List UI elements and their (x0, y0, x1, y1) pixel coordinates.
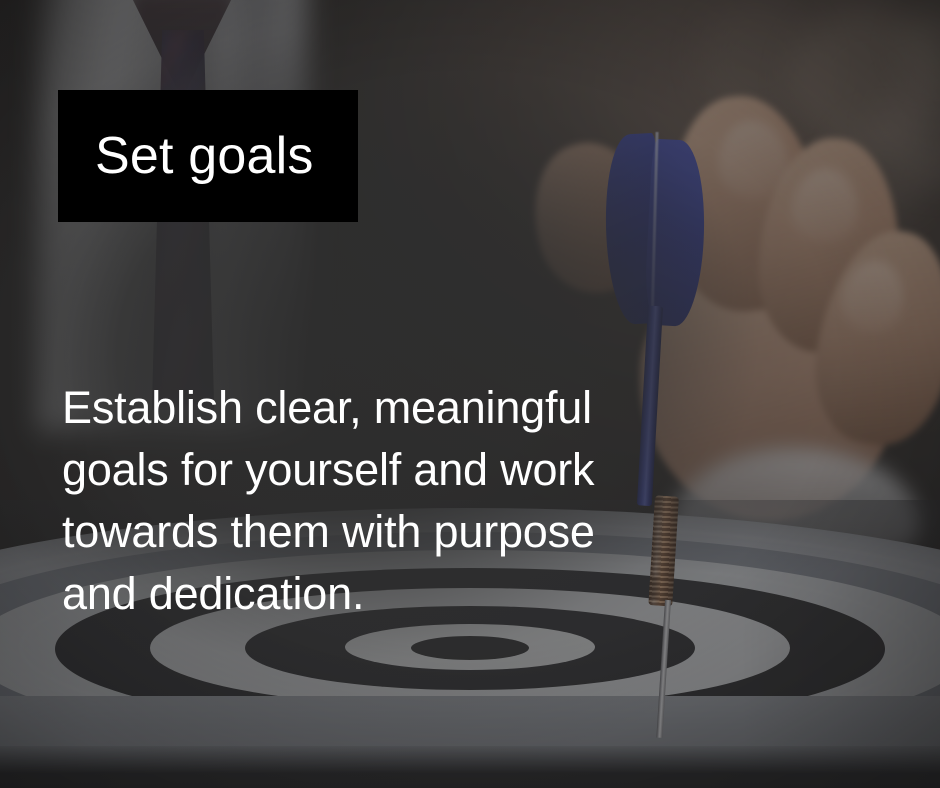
body-paragraph: Establish clear, meaningful goals for yo… (62, 377, 674, 625)
page-title: Set goals (58, 130, 314, 182)
heading-banner: Set goals (58, 90, 358, 222)
slide-canvas: Set goals Establish clear, meaningful go… (0, 0, 940, 788)
slide-content: Set goals Establish clear, meaningful go… (0, 0, 940, 788)
